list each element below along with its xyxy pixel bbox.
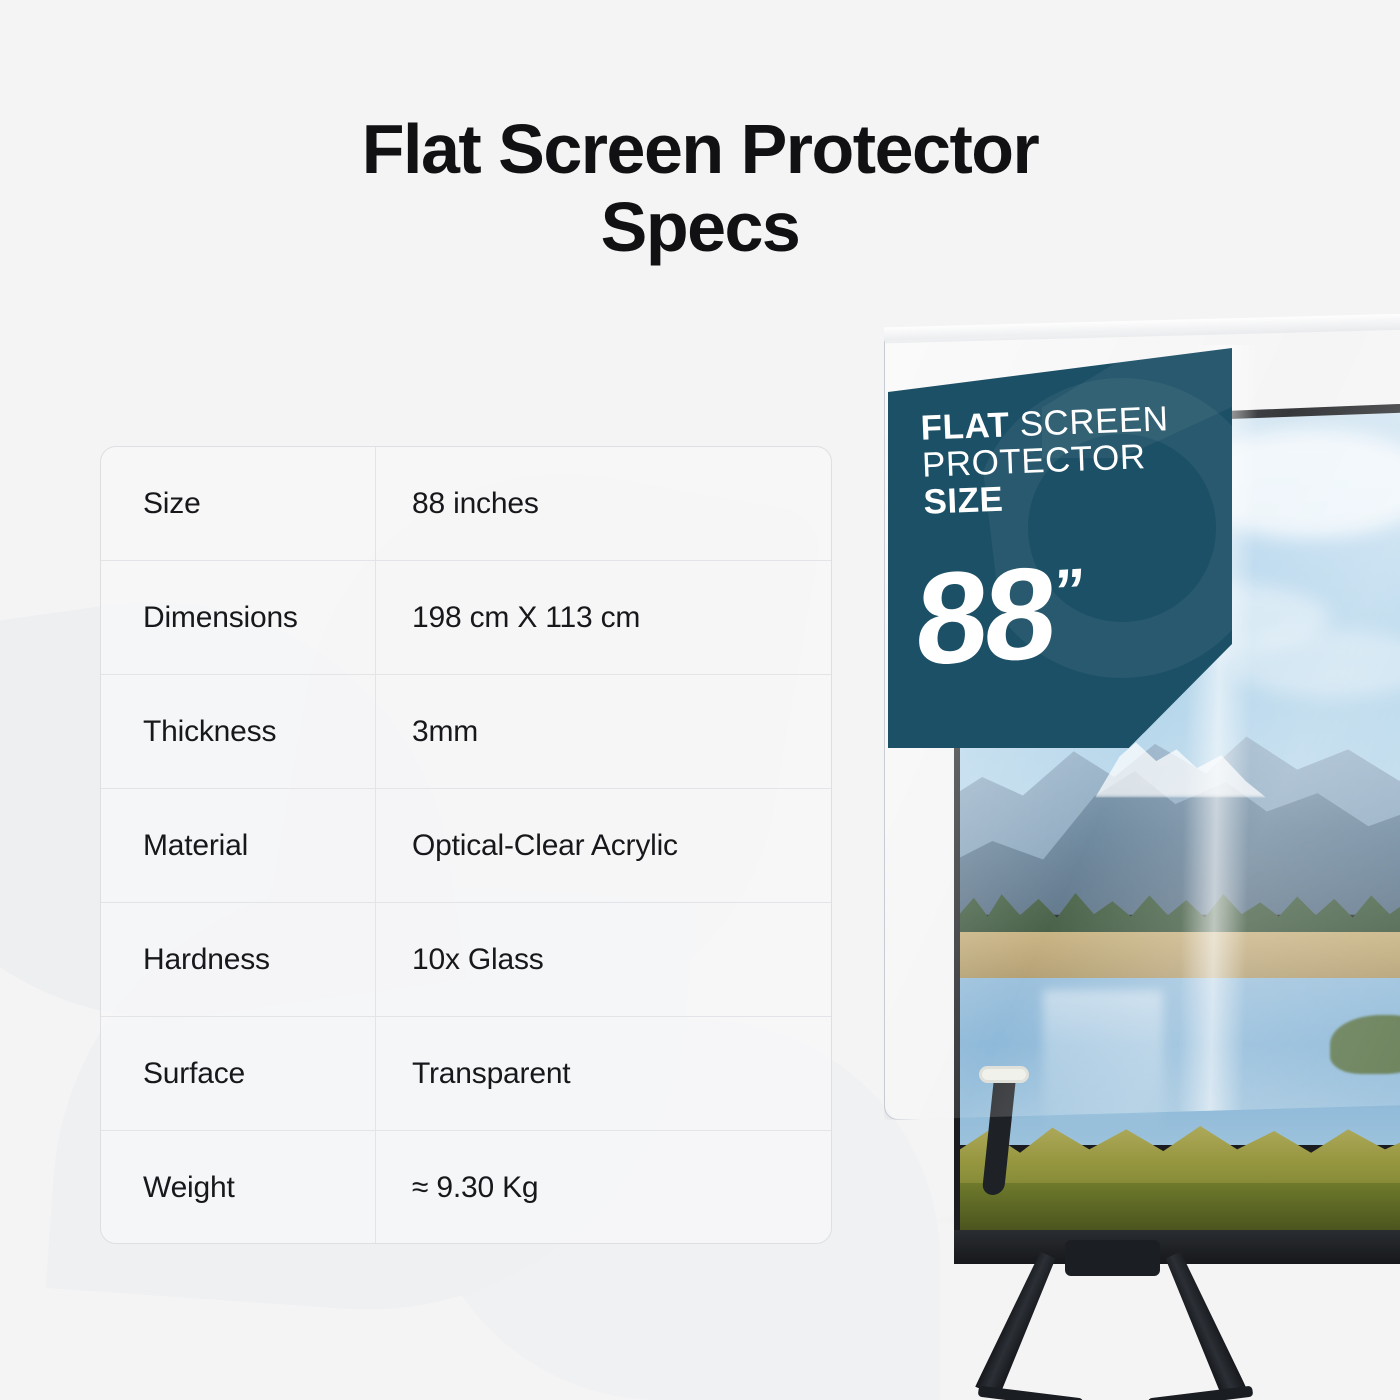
spec-value: 3mm [376,675,831,788]
poster-canvas: Flat Screen Protector Specs Size 88 inch… [0,0,1400,1400]
product-illustration: FLAT SCREEN PROTECTOR SIZE 88” [860,300,1400,1300]
table-row: Size 88 inches [101,447,831,561]
spec-value: Optical-Clear Acrylic [376,789,831,902]
spec-value: 10x Glass [376,903,831,1016]
spec-key: Dimensions [101,561,376,674]
badge-screen-word: SCREEN [1009,399,1169,444]
spec-key: Size [101,447,376,560]
table-row: Surface Transparent [101,1017,831,1131]
spec-value: Transparent [376,1017,831,1130]
tv-stand-neck [1065,1240,1160,1276]
spec-table: Size 88 inches Dimensions 198 cm X 113 c… [100,446,832,1244]
tv-stand-leg-left [975,1250,1060,1398]
tv-stand-foot-right [1148,1386,1254,1400]
spec-key: Surface [101,1017,376,1130]
badge-flat-word: FLAT [920,405,1010,447]
badge-size-value: 88” [913,545,1085,684]
page-title: Flat Screen Protector Specs [0,110,1400,267]
spec-key: Thickness [101,675,376,788]
tv-stand-leg-right [1161,1250,1246,1398]
spec-key: Hardness [101,903,376,1016]
spec-value: 88 inches [376,447,831,560]
tv-stand-foot-left [978,1386,1084,1400]
table-row: Hardness 10x Glass [101,903,831,1017]
badge-size-unit: ” [1052,556,1085,627]
table-row: Thickness 3mm [101,675,831,789]
table-row: Dimensions 198 cm X 113 cm [101,561,831,675]
badge-text-block: FLAT SCREEN PROTECTOR SIZE [920,398,1224,521]
size-badge: FLAT SCREEN PROTECTOR SIZE 88” [888,348,1232,748]
spec-key: Weight [101,1131,376,1244]
spec-key: Material [101,789,376,902]
badge-size-number: 88 [912,539,1056,693]
spec-value: 198 cm X 113 cm [376,561,831,674]
page-title-line-2: Specs [601,188,800,266]
table-row: Material Optical-Clear Acrylic [101,789,831,903]
table-row: Weight ≈ 9.30 Kg [101,1131,831,1244]
page-title-line-1: Flat Screen Protector [362,110,1039,188]
spec-value: ≈ 9.30 Kg [376,1131,831,1244]
